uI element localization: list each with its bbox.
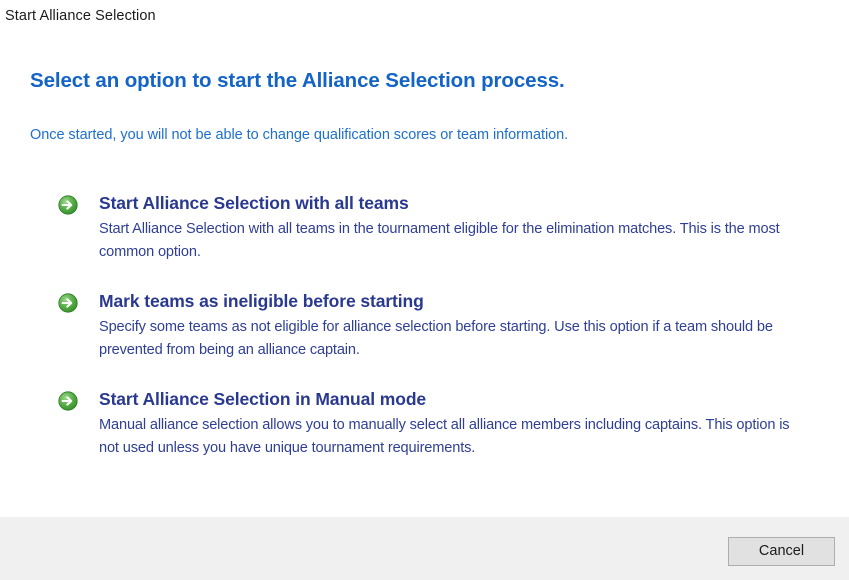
option-list: Start Alliance Selection with all teams … <box>58 192 798 460</box>
option-description: Start Alliance Selection with all teams … <box>99 218 798 264</box>
option-title: Start Alliance Selection with all teams <box>99 192 798 214</box>
green-arrow-right-icon <box>58 195 78 215</box>
dialog-body: Select an option to start the Alliance S… <box>0 32 849 517</box>
dialog-footer: Cancel <box>0 517 849 580</box>
sub-instruction: Once started, you will not be able to ch… <box>30 127 568 143</box>
window-title: Start Alliance Selection <box>5 6 156 26</box>
main-instruction: Select an option to start the Alliance S… <box>30 69 565 93</box>
option-description: Specify some teams as not eligible for a… <box>99 316 798 362</box>
green-arrow-right-icon <box>58 391 78 411</box>
option-title: Start Alliance Selection in Manual mode <box>99 388 798 410</box>
command-link-mark-ineligible[interactable]: Mark teams as ineligible before starting… <box>58 290 798 362</box>
command-link-manual-mode[interactable]: Start Alliance Selection in Manual mode … <box>58 388 798 460</box>
option-title: Mark teams as ineligible before starting <box>99 290 798 312</box>
green-arrow-right-icon <box>58 293 78 313</box>
option-description: Manual alliance selection allows you to … <box>99 414 798 460</box>
cancel-button[interactable]: Cancel <box>728 537 835 566</box>
command-link-start-all-teams[interactable]: Start Alliance Selection with all teams … <box>58 192 798 264</box>
